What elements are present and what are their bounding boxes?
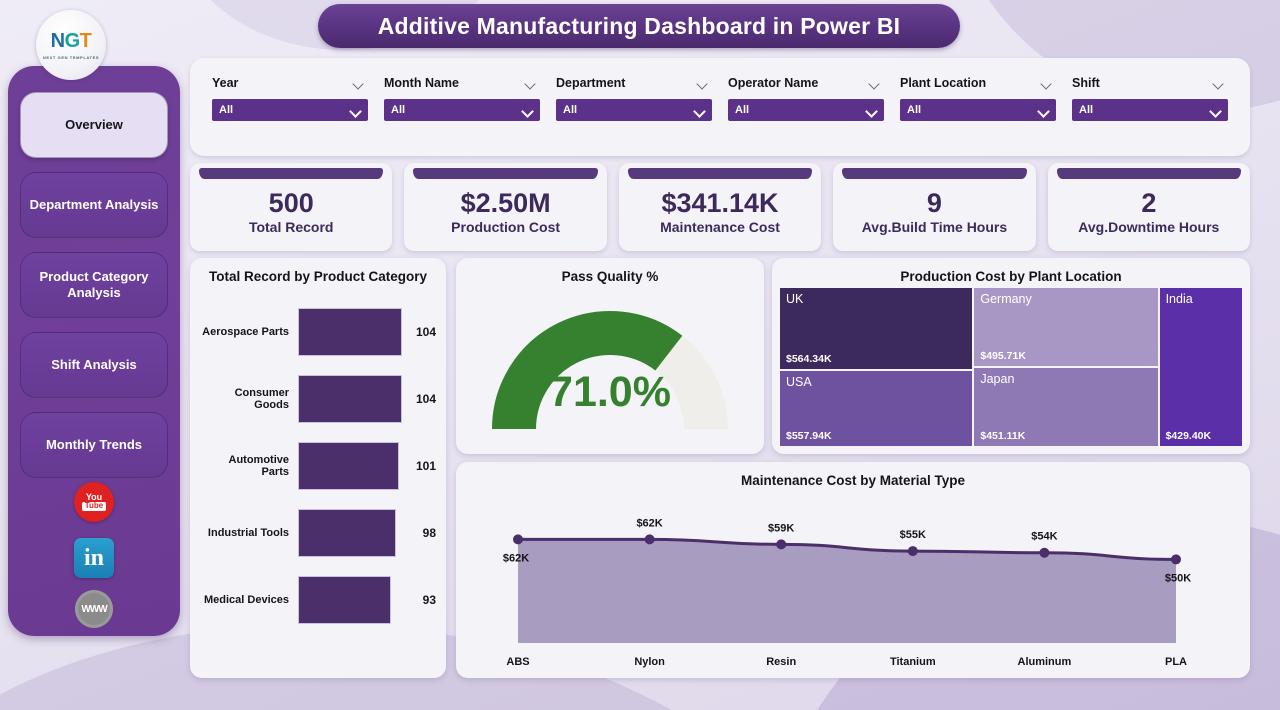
logo-wordmark: NGT [51,31,92,51]
treemap-tile[interactable]: Japan$451.11K [974,368,1157,446]
bar-category-label: Industrial Tools [200,527,298,539]
bar-track [298,442,406,490]
treemap-tile[interactable]: India$429.40K [1160,288,1242,446]
bar-category-label: Consumer Goods [200,387,298,411]
slicer-dropdown[interactable]: All [900,99,1056,121]
treemap-tile-value: $451.11K [980,430,1025,442]
area-axis-label: Aluminum [1018,656,1072,668]
bar-chart-row[interactable]: Medical Devices93 [200,566,436,633]
sidebar-item-label: Overview [65,117,123,133]
area-data-point[interactable] [908,546,918,556]
treemap-column-right: India$429.40K [1160,288,1242,446]
slicer-title: Month Name [384,76,459,90]
kpi-row: 500 Total Record $2.50M Production Cost … [190,163,1250,251]
slicer-value: All [735,104,749,116]
slicer-dropdown[interactable]: All [1072,99,1228,121]
kpi-card-avg-downtime-hours[interactable]: 2 Avg.Downtime Hours [1048,163,1250,251]
chevron-down-icon [522,107,533,114]
bar-chart-row[interactable]: Aerospace Parts104 [200,298,436,365]
area-point-label: $62K [636,517,662,529]
ngt-logo: NGT NEXT GEN TEMPLATES [36,10,106,80]
bar-chart-row[interactable]: Automotive Parts101 [200,432,436,499]
chevron-down-icon [350,107,361,114]
globe-icon[interactable]: WWW [75,590,113,628]
treemap-tile-label: UK [786,292,803,306]
logo-letter-g: G [65,30,80,52]
bar-value-label: 104 [406,392,436,406]
area-axis-label: Resin [766,656,796,668]
treemap-tile-value: $564.34K [786,353,832,365]
bar-segment[interactable] [298,509,396,557]
slicer-header: Plant Location [900,76,1056,90]
sidebar-item-label: Department Analysis [30,197,159,213]
treemap-tile-label: USA [786,375,812,389]
chart-title: Production Cost by Plant Location [772,258,1250,284]
chart-title: Maintenance Cost by Material Type [456,462,1250,488]
area-data-point[interactable] [1171,554,1181,564]
logo-letter-t: T [80,30,92,52]
bar-category-label: Aerospace Parts [200,326,298,338]
linkedin-icon-text: in [84,546,104,570]
area-point-label: $62K [503,552,529,564]
treemap-column-mid: Germany$495.71KJapan$451.11K [974,288,1157,446]
slicer-value: All [219,104,233,116]
slicer-title: Plant Location [900,76,986,90]
slicer-value: All [563,104,577,116]
slicer-header: Shift [1072,76,1228,90]
area-data-point[interactable] [513,534,523,544]
chart-title: Pass Quality % [456,258,764,284]
area-point-label: $59K [768,522,794,534]
linkedin-icon[interactable]: in [74,538,114,578]
chevron-down-icon [1210,107,1221,114]
slicer-dropdown[interactable]: All [728,99,884,121]
bar-track [298,576,406,624]
treemap-tile-label: Japan [980,372,1014,386]
sidebar: Overview Department Analysis Product Cat… [8,66,180,636]
logo-letter-n: N [51,30,65,52]
chevron-down-icon [1038,107,1049,114]
website-link-wrap: WWW [8,590,180,628]
youtube-icon-top-text: You [86,493,102,502]
area-axis-label: PLA [1165,656,1187,668]
kpi-label: Total Record [249,219,334,235]
chevron-down-icon[interactable] [353,80,364,87]
chevron-down-icon [866,107,877,114]
bar-category-label: Medical Devices [200,594,298,606]
slicer-operator-name: Operator Name All [720,76,892,156]
sidebar-item-overview[interactable]: Overview [20,92,168,158]
bar-track [298,308,406,356]
slicer-value: All [391,104,405,116]
youtube-icon[interactable]: You Tube [74,482,114,522]
area-point-label: $55K [900,529,926,541]
slicer-plant-location: Plant Location All [892,76,1064,156]
kpi-card-total-record[interactable]: 500 Total Record [190,163,392,251]
sidebar-item-product-category-analysis[interactable]: Product Category Analysis [20,252,168,318]
globe-icon-text: WWW [81,604,106,615]
sidebar-item-department-analysis[interactable]: Department Analysis [20,172,168,238]
sidebar-item-shift-analysis[interactable]: Shift Analysis [20,332,168,398]
sidebar-item-label: Product Category Analysis [29,269,159,302]
bar-value-label: 93 [406,593,436,607]
chevron-down-icon[interactable] [1041,80,1052,87]
bar-segment[interactable] [298,375,402,423]
chevron-down-icon[interactable] [1213,80,1224,87]
area-point-label: $54K [1031,531,1057,543]
kpi-card-avg-build-time-hours[interactable]: 9 Avg.Build Time Hours [833,163,1035,251]
area-axis-label: Nylon [634,656,665,668]
treemap-grid: UK$564.34KUSA$557.94K Germany$495.71KJap… [780,288,1242,446]
dashboard-canvas: Additive Manufacturing Dashboard in Powe… [0,0,1280,710]
slicer-value: All [1079,104,1093,116]
area-data-point[interactable] [1039,548,1049,558]
slicer-year: Year All [204,76,376,156]
sidebar-item-monthly-trends[interactable]: Monthly Trends [20,412,168,478]
sidebar-item-label: Shift Analysis [51,357,136,373]
chart-title: Total Record by Product Category [190,258,446,284]
chart-pass-quality-percent[interactable]: Pass Quality % 71.0% [456,258,764,454]
treemap-tile[interactable]: UK$564.34K [780,288,972,369]
slicer-header: Month Name [384,76,540,90]
kpi-value: $341.14K [661,189,778,217]
bar-value-label: 104 [406,325,436,339]
treemap-tile-label: Germany [980,292,1031,306]
area-point-label: $50K [1165,572,1191,584]
bar-track [298,509,406,557]
kpi-value: 2 [1141,189,1156,217]
card-accent-bar [628,168,812,179]
bar-segment[interactable] [298,308,402,356]
area-data-point[interactable] [776,539,786,549]
treemap-tile-value: $557.94K [786,430,832,442]
chart-production-cost-by-plant-location[interactable]: Production Cost by Plant Location UK$564… [772,258,1250,454]
slicer-month-name: Month Name All [376,76,548,156]
bar-chart-row[interactable]: Consumer Goods104 [200,365,436,432]
area-axis-label: Titanium [890,656,936,668]
kpi-value: $2.50M [461,189,551,217]
slicer-header: Operator Name [728,76,884,90]
slicer-title: Department [556,76,625,90]
treemap-tile-value: $495.71K [980,350,1026,362]
gauge-visual: 71.0% [456,286,764,436]
slicer-dropdown[interactable]: All [384,99,540,121]
slicer-header: Year [212,76,368,90]
slicer-dropdown[interactable]: All [212,99,368,121]
chevron-down-icon[interactable] [697,80,708,87]
bar-category-label: Automotive Parts [200,454,298,478]
dashboard-title-banner: Additive Manufacturing Dashboard in Powe… [318,4,960,48]
kpi-card-maintenance-cost[interactable]: $341.14K Maintenance Cost [619,163,821,251]
slicer-department: Department All [548,76,720,156]
gauge-value-label: 71.0% [456,368,764,417]
bar-chart-rows: Aerospace Parts104Consumer Goods104Autom… [190,284,446,641]
kpi-label: Avg.Downtime Hours [1078,219,1219,235]
slicer-header: Department [556,76,712,90]
slicer-value: All [907,104,921,116]
chart-total-record-by-product-category[interactable]: Total Record by Product Category Aerospa… [190,258,446,678]
card-accent-bar [842,168,1026,179]
kpi-value: 500 [269,189,314,217]
kpi-card-production-cost[interactable]: $2.50M Production Cost [404,163,606,251]
filter-bar: Year All Month Name All Department [190,58,1250,156]
bar-value-label: 98 [406,526,436,540]
slicer-title: Year [212,76,238,90]
kpi-value: 9 [927,189,942,217]
card-accent-bar [1057,168,1241,179]
kpi-label: Avg.Build Time Hours [862,219,1007,235]
bar-segment[interactable] [298,442,399,490]
social-links: You Tube in [8,482,180,578]
treemap-tile-value: $429.40K [1166,430,1212,442]
kpi-label: Maintenance Cost [660,219,780,235]
area-axis-label: ABS [506,656,529,668]
bar-value-label: 101 [406,459,436,473]
page-title: Additive Manufacturing Dashboard in Powe… [378,13,901,40]
chevron-down-icon [694,107,705,114]
slicer-title: Shift [1072,76,1100,90]
chevron-down-icon[interactable] [869,80,880,87]
chevron-down-icon[interactable] [525,80,536,87]
treemap-tile[interactable]: USA$557.94K [780,371,972,446]
card-accent-bar [199,168,383,179]
kpi-label: Production Cost [451,219,560,235]
card-accent-bar [413,168,597,179]
chart-maintenance-cost-by-material-type[interactable]: Maintenance Cost by Material Type $62KAB… [456,462,1250,678]
area-data-point[interactable] [645,534,655,544]
bar-track [298,375,406,423]
treemap-tile[interactable]: Germany$495.71K [974,288,1157,366]
bar-chart-row[interactable]: Industrial Tools98 [200,499,436,566]
slicer-dropdown[interactable]: All [556,99,712,121]
area-chart-svg: $62KABS$62KNylon$59KResin$55KTitanium$54… [456,488,1250,678]
slicer-title: Operator Name [728,76,818,90]
sidebar-item-label: Monthly Trends [46,437,142,453]
logo-subtitle: NEXT GEN TEMPLATES [43,55,99,60]
bar-segment[interactable] [298,576,391,624]
treemap-tile-label: India [1166,292,1193,306]
youtube-icon-bottom-text: Tube [82,502,107,511]
treemap-column-left: UK$564.34KUSA$557.94K [780,288,972,446]
slicer-shift: Shift All [1064,76,1236,156]
